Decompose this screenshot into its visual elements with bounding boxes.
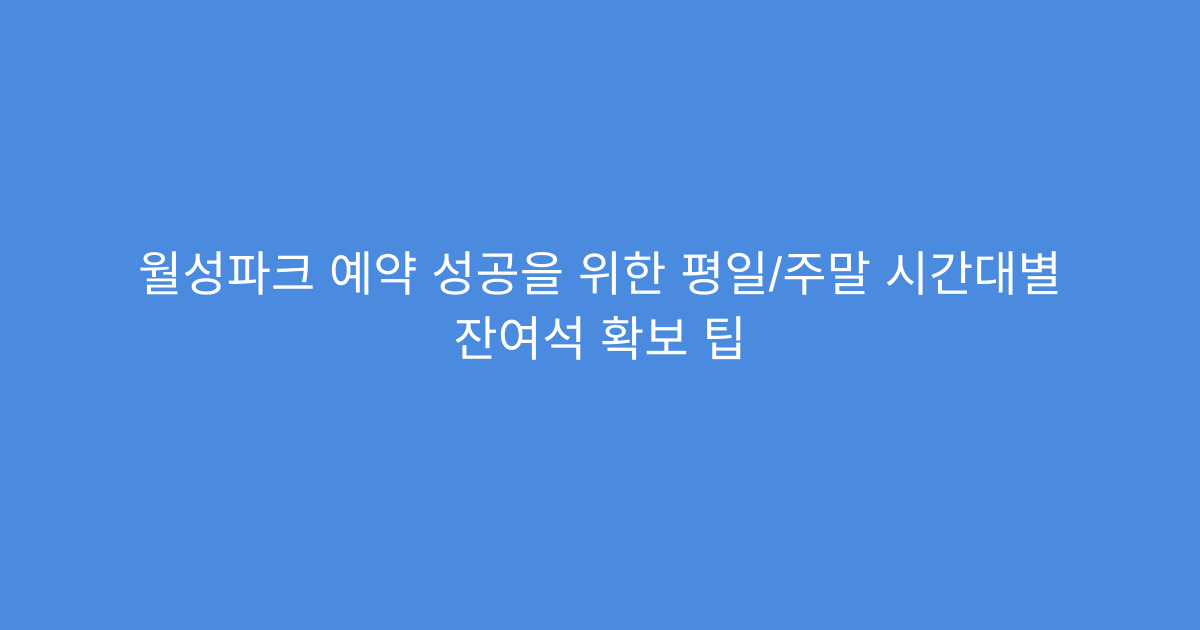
page-title: 월성파크 예약 성공을 위한 평일/주말 시간대별 잔여석 확보 팁 [100,243,1100,373]
og-banner-card: 월성파크 예약 성공을 위한 평일/주말 시간대별 잔여석 확보 팁 [0,0,1200,630]
title-block: 월성파크 예약 성공을 위한 평일/주말 시간대별 잔여석 확보 팁 [80,243,1120,373]
